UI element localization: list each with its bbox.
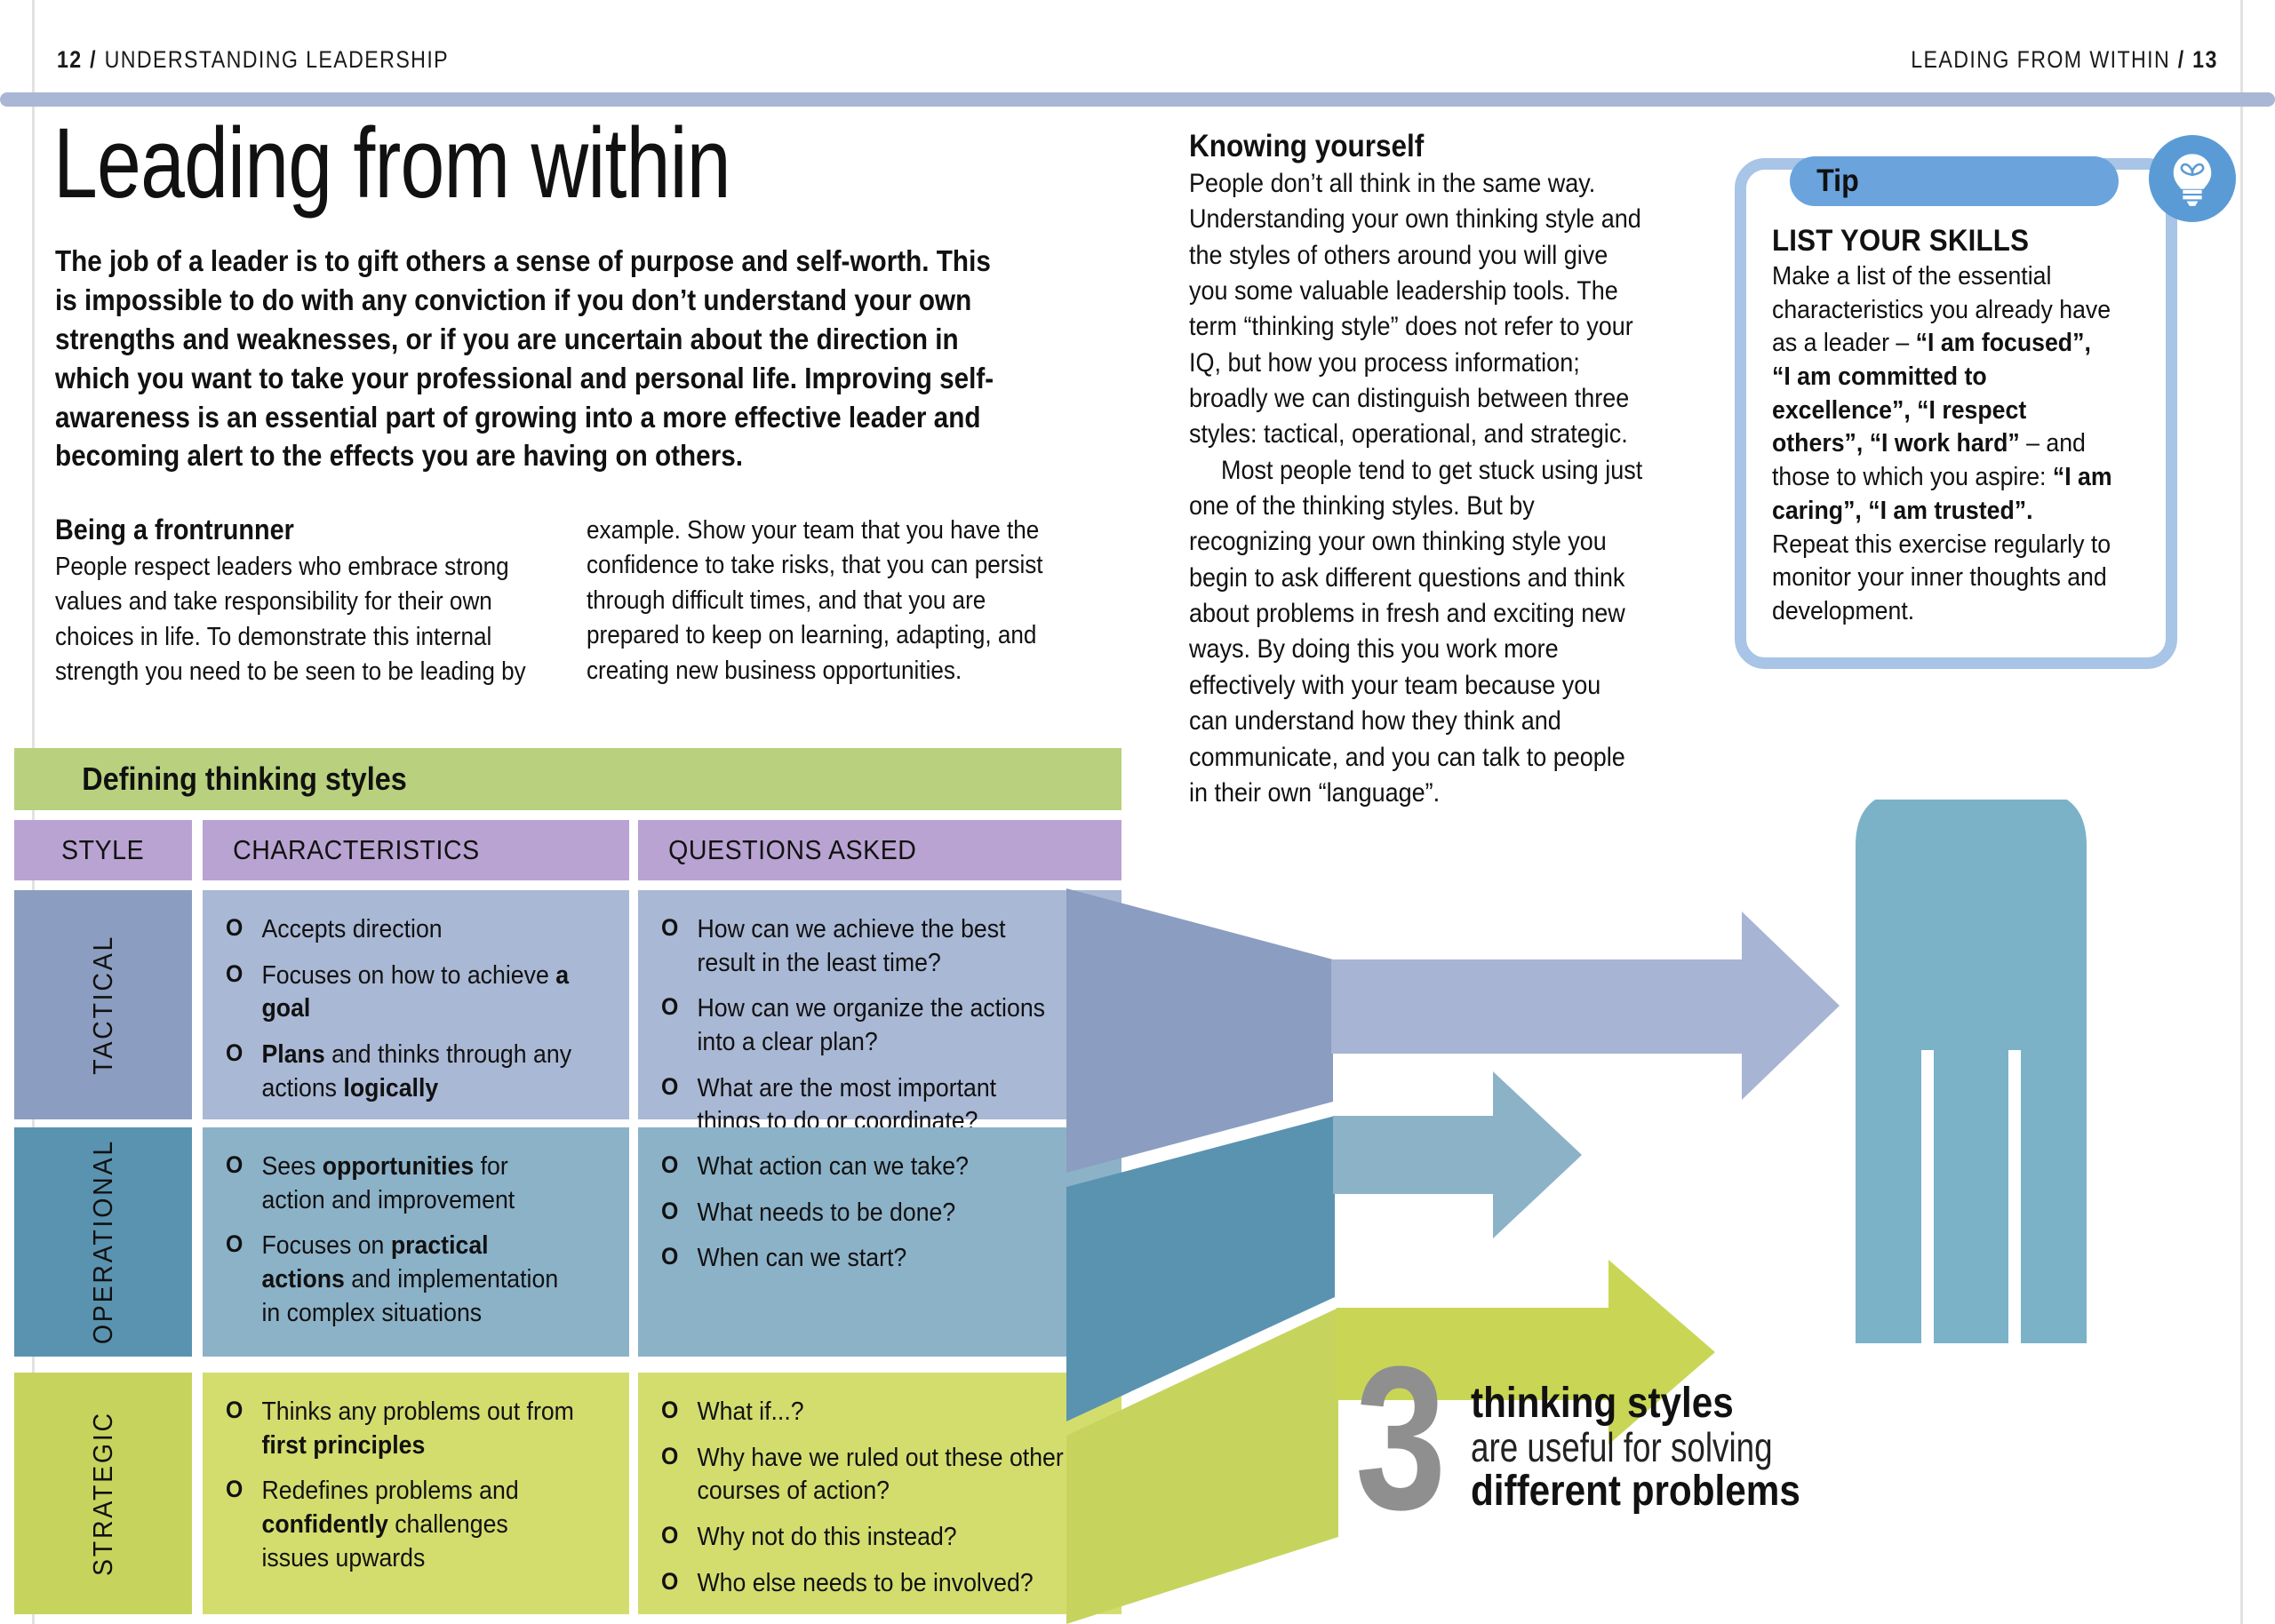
bullet-item: When can we start? <box>661 1242 1065 1276</box>
operational-arrow <box>1333 1071 1582 1238</box>
knowing-yourself-heading: Knowing yourself <box>1189 129 1645 164</box>
frontrunner-column-1: Being a frontrunner People respect leade… <box>55 513 624 690</box>
tip-text: Make a list of the essential characteris… <box>1772 260 2115 629</box>
frontrunner-column-2: example. Show your team that you have th… <box>587 513 1137 689</box>
tip-title: LIST YOUR SKILLS <box>1772 224 2115 259</box>
table-row-style-label: STRATEGIC <box>14 1373 192 1614</box>
table-header-questions-label: QUESTIONS ASKED <box>668 834 916 866</box>
page-title: Leading from within <box>53 114 764 213</box>
bullet-item: Plans and thinks through any actions log… <box>226 1039 578 1105</box>
bullet-item: Redefines problems and confidently chall… <box>226 1475 578 1575</box>
frontrunner-body-2: example. Show your team that you have th… <box>587 513 1082 689</box>
callout-line-3: different problems <box>1471 1469 1909 1514</box>
callout-line-1: thinking styles <box>1471 1381 1909 1426</box>
bullet-item: What action can we take? <box>661 1150 1065 1184</box>
table-title: Defining thinking styles <box>82 760 406 798</box>
table-title-bar: Defining thinking styles <box>14 748 1122 810</box>
table-row-style-label: TACTICAL <box>14 890 192 1119</box>
knowing-yourself-section: Knowing yourself People don’t all think … <box>1189 129 1696 811</box>
table-header-questions: QUESTIONS ASKED <box>638 820 1122 880</box>
lightbulb-icon <box>2149 135 2236 222</box>
frontrunner-body-1: People respect leaders who embrace stron… <box>55 550 567 690</box>
person-body <box>1856 800 2087 1343</box>
callout-text: thinking styles are useful for solving d… <box>1471 1381 1968 1514</box>
bullet-item: How can we organize the actions into a c… <box>661 992 1065 1059</box>
bullet-item: Why have we ruled out these other course… <box>661 1442 1065 1509</box>
bullet-item: Focuses on practical actions and impleme… <box>226 1230 578 1330</box>
table-header-style-label: STYLE <box>61 834 144 866</box>
table-row-style-label: OPERATIONAL <box>14 1127 192 1357</box>
tip-tab-label: Tip <box>1816 163 1859 199</box>
header-rule-right <box>0 92 2218 107</box>
callout-number: 3 <box>1355 1355 1446 1523</box>
knowing-yourself-para-1: People don’t all think in the same way. … <box>1189 166 1645 453</box>
bullet-item: What if...? <box>661 1396 1065 1429</box>
style-name: TACTICAL <box>87 935 119 1075</box>
table-cell-characteristics: Accepts directionFocuses on how to achie… <box>203 890 629 1119</box>
table-header-characteristics: CHARACTERISTICS <box>203 820 629 880</box>
bullet-item: Sees opportunities for action and improv… <box>226 1150 578 1217</box>
knowing-yourself-para-2: Most people tend to get stuck using just… <box>1189 453 1645 811</box>
book-spread: 12/UNDERSTANDING LEADERSHIP LEADING FROM… <box>0 0 2275 1624</box>
table-cell-questions: How can we achieve the best result in th… <box>638 890 1122 1119</box>
table-cell-questions: What if...?Why have we ruled out these o… <box>638 1373 1122 1614</box>
table-cell-characteristics: Thinks any problems out from first princ… <box>203 1373 629 1614</box>
table-cell-questions: What action can we take?What needs to be… <box>638 1127 1122 1357</box>
page-number-left: 12 <box>57 46 83 73</box>
bullet-item: Accepts direction <box>226 913 578 947</box>
table-header-characteristics-label: CHARACTERISTICS <box>233 834 480 866</box>
bullet-item: How can we achieve the best result in th… <box>661 913 1065 980</box>
page-number-right: 13 <box>2192 46 2218 73</box>
bullet-item: Thinks any problems out from first princ… <box>226 1396 578 1462</box>
table-cell-characteristics: Sees opportunities for action and improv… <box>203 1127 629 1357</box>
tip-tab: Tip <box>1790 156 2119 206</box>
standfirst-paragraph: The job of a leader is to gift others a … <box>55 242 1007 475</box>
frontrunner-heading: Being a frontrunner <box>55 513 567 546</box>
running-head-left: 12/UNDERSTANDING LEADERSHIP <box>57 46 449 74</box>
section-title-left: UNDERSTANDING LEADERSHIP <box>105 46 449 73</box>
bullet-item: Who else needs to be involved? <box>661 1567 1065 1601</box>
section-title-right: LEADING FROM WITHIN <box>1911 46 2170 73</box>
tip-body: LIST YOUR SKILLS Make a list of the esse… <box>1772 224 2145 629</box>
slash-separator-right: / <box>2170 46 2192 73</box>
tactical-arrow <box>1331 912 1840 1100</box>
style-name: STRATEGIC <box>87 1411 119 1576</box>
callout-line-2: are useful for solving <box>1471 1426 1869 1469</box>
table-header-style: STYLE <box>14 820 192 880</box>
running-head-right: LEADING FROM WITHIN/13 <box>1911 46 2218 74</box>
style-name: OPERATIONAL <box>87 1139 119 1344</box>
bullet-item: Why not do this instead? <box>661 1521 1065 1555</box>
bullet-item: What needs to be done? <box>661 1197 1065 1230</box>
slash-separator-left: / <box>83 46 105 73</box>
bullet-item: Focuses on how to achieve a goal <box>226 959 578 1026</box>
